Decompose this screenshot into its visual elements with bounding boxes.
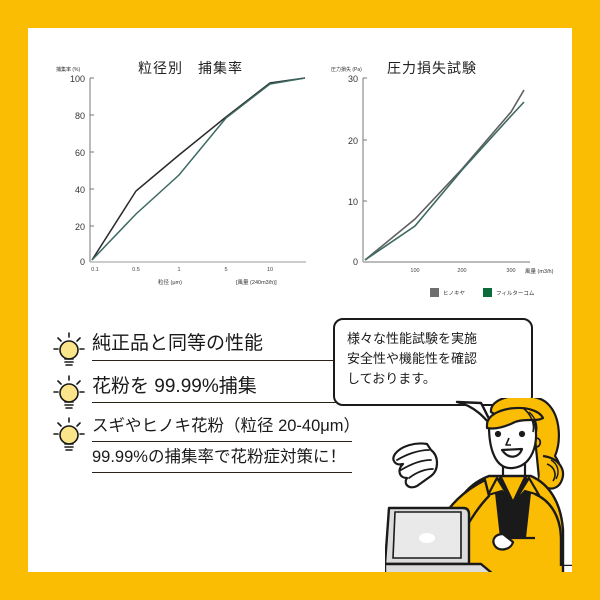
svg-text:100: 100 bbox=[410, 268, 419, 274]
chart1-plot: 100 80 60 40 20 0 0.1 0.5 1 5 10 bbox=[48, 52, 313, 292]
svg-text:60: 60 bbox=[75, 148, 85, 158]
chart1-ylabel: 捕集率 (%) bbox=[56, 66, 80, 73]
lightbulb-icon bbox=[52, 375, 86, 415]
legend-item-0: ヒノキヤ bbox=[430, 288, 465, 297]
svg-text:200: 200 bbox=[457, 268, 466, 274]
bullet-subtext-2: 99.99%の捕集率で花粉症対策に！ bbox=[92, 446, 352, 473]
feature-bullet-list: 純正品と同等の性能 花粉を 99.99%捕集 bbox=[52, 330, 352, 485]
svg-text:80: 80 bbox=[75, 111, 85, 121]
svg-text:0.5: 0.5 bbox=[132, 267, 140, 273]
lightbulb-icon bbox=[52, 417, 86, 457]
svg-text:1: 1 bbox=[177, 267, 180, 273]
svg-text:10: 10 bbox=[267, 267, 273, 273]
svg-text:10: 10 bbox=[348, 197, 358, 207]
speech-line-2: 安全性や機能性を確認 bbox=[347, 349, 519, 369]
svg-text:0.1: 0.1 bbox=[91, 267, 99, 273]
legend-label-1: フィルターコム bbox=[496, 289, 534, 297]
svg-text:20: 20 bbox=[348, 136, 358, 146]
chart2-ylabel: 圧力損失 (Pa) bbox=[331, 66, 362, 73]
poster-root: 粒径別 捕集率 捕集率 (%) 100 80 60 40 20 0 0.1 0.… bbox=[0, 0, 600, 600]
legend-label-0: ヒノキヤ bbox=[443, 289, 465, 297]
svg-text:5: 5 bbox=[224, 267, 227, 273]
frame-bottom bbox=[0, 572, 600, 600]
chart1-title: 粒径別 捕集率 bbox=[138, 58, 243, 78]
chart-pressure-loss: 圧力損失試験 圧力損失 (Pa) 30 20 10 0 100 200 300 … bbox=[325, 52, 565, 292]
speech-line-1: 様々な性能試験を実施 bbox=[347, 329, 519, 349]
bullet-text-2: スギやヒノキ花粉（粒径 20-40μm） bbox=[92, 415, 352, 442]
presenter-illustration bbox=[385, 398, 600, 600]
frame-top bbox=[0, 0, 600, 28]
svg-text:300: 300 bbox=[506, 268, 515, 274]
chart2-plot: 30 20 10 0 100 200 300 bbox=[325, 52, 565, 292]
legend-item-1: フィルターコム bbox=[483, 288, 534, 297]
chart-legend: ヒノキヤ フィルターコム bbox=[430, 288, 534, 297]
svg-text:0: 0 bbox=[353, 257, 358, 267]
chart1-xlabel: 粒径 (μm) bbox=[158, 278, 182, 286]
bullet-text-1: 花粉を 99.99%捕集 bbox=[92, 373, 352, 404]
chart-collection-efficiency: 粒径別 捕集率 捕集率 (%) 100 80 60 40 20 0 0.1 0.… bbox=[48, 52, 313, 292]
legend-swatch-green bbox=[483, 288, 492, 297]
speech-line-3: しております。 bbox=[347, 369, 519, 389]
svg-text:40: 40 bbox=[75, 185, 85, 195]
speech-bubble: 様々な性能試験を実施 安全性や機能性を確認 しております。 bbox=[333, 318, 533, 406]
svg-text:30: 30 bbox=[348, 74, 358, 84]
svg-text:100: 100 bbox=[70, 74, 85, 84]
svg-text:0: 0 bbox=[80, 257, 85, 267]
svg-text:20: 20 bbox=[75, 222, 85, 232]
bullet-text-0: 純正品と同等の性能 bbox=[92, 330, 352, 361]
chart2-xlabel: 風量 (m3/h) bbox=[525, 267, 553, 275]
bullet-item-0: 純正品と同等の性能 bbox=[52, 330, 352, 361]
bullet-item-1: 花粉を 99.99%捕集 bbox=[52, 373, 352, 404]
lightbulb-icon bbox=[52, 332, 86, 372]
chart2-title: 圧力損失試験 bbox=[387, 58, 477, 78]
bullet-item-2: スギやヒノキ花粉（粒径 20-40μm） 99.99%の捕集率で花粉症対策に！ bbox=[52, 415, 352, 473]
legend-swatch-gray bbox=[430, 288, 439, 297]
frame-left bbox=[0, 0, 28, 600]
frame-right bbox=[572, 0, 600, 600]
chart1-xnote: [風量 (240m3/h)] bbox=[236, 278, 277, 286]
